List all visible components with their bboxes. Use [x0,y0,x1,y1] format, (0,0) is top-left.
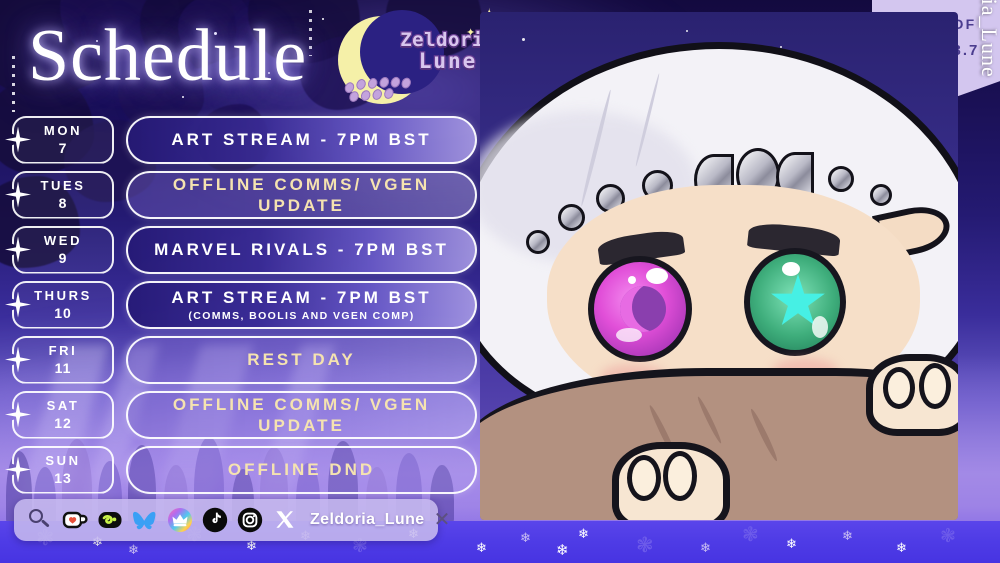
event-title: MARVEL RIVALS - 7PM BST [154,239,449,260]
schedule-row: MON7ART STREAM - 7PM BST [12,113,477,166]
throne-icon[interactable] [167,507,193,533]
character-eye-right [744,248,846,356]
dotted-accent-mid [309,10,312,56]
event-pill: MARVEL RIVALS - 7PM BST [126,226,477,274]
character-hand-left [612,442,730,520]
event-title: OFFLINE COMMS/ VGEN UPDATE [138,394,465,436]
schedule-row: TUES8OFFLINE COMMS/ VGEN UPDATE [12,168,477,221]
event-pill: ART STREAM - 7PM BST [126,116,477,164]
sparkle-icon: ✦ [466,28,475,39]
page-title: Schedule [28,14,307,99]
schedule-row: SAT12OFFLINE COMMS/ VGEN UPDATE [12,388,477,441]
social-handle: Zeldoria_Lune [310,511,425,529]
day-name: SAT [47,398,80,413]
day-date: 9 [59,250,68,266]
character-artwork [480,12,958,520]
schedule-row: FRI11REST DAY [12,333,477,386]
instagram-icon[interactable] [237,507,263,533]
day-date: 11 [55,360,72,376]
event-pill: OFFLINE COMMS/ VGEN UPDATE [126,391,477,439]
day-date: 10 [54,305,72,321]
x-icon[interactable] [272,507,298,533]
day-name: TUES [40,178,85,193]
event-title: ART STREAM - 7PM BST [171,129,431,150]
character-eye-left [588,256,692,362]
day-date: 12 [54,415,72,431]
day-name: MON [44,123,82,138]
tiktok-icon[interactable] [202,507,228,533]
schedule-list: MON7ART STREAM - 7PM BSTTUES8OFFLINE COM… [12,113,477,498]
search-icon[interactable] [27,507,53,533]
event-pill: REST DAY [126,336,477,384]
day-name: FRI [49,343,78,358]
event-title: ART STREAM - 7PM BST [171,287,431,308]
schedule-row: SUN13OFFLINE DND [12,443,477,496]
day-name: SUN [45,453,80,468]
schedule-row: WED9MARVEL RIVALS - 7PM BST [12,223,477,276]
event-subtitle: (COMMS, BOOLIS AND VGEN COMP) [188,310,414,322]
close-icon[interactable]: ✕ [434,510,451,530]
vgen-icon[interactable] [97,507,123,533]
bluesky-icon[interactable] [132,507,158,533]
schedule-graphic: ❃ ❄ ❄ ❃ ❄ ❄ ❃ ❄ ❄ ❄ ❄ ❄ ❃ ❄ ❃ ❄ ❄ ❄ ❃ Sc… [0,0,1000,563]
kofi-icon[interactable] [62,507,88,533]
schedule-row: THURS10ART STREAM - 7PM BST(COMMS, BOOLI… [12,278,477,331]
day-date: 7 [59,140,68,156]
day-name: WED [44,233,82,248]
event-pill: OFFLINE COMMS/ VGEN UPDATE [126,171,477,219]
event-title: OFFLINE DND [228,459,375,480]
event-pill: ART STREAM - 7PM BST(COMMS, BOOLIS AND V… [126,281,477,329]
event-title: OFFLINE COMMS/ VGEN UPDATE [138,174,465,216]
day-date: 8 [59,195,68,211]
character-hand-right [866,354,958,436]
event-title: REST DAY [247,349,355,370]
dotted-accent-left [12,56,15,112]
day-date: 13 [54,470,72,486]
artist-credit-name: Zeldoria_Lune [976,0,1000,78]
day-name: THURS [34,288,92,303]
event-pill: OFFLINE DND [126,446,477,494]
social-bar[interactable]: Zeldoria_Lune ✕ [14,499,438,541]
